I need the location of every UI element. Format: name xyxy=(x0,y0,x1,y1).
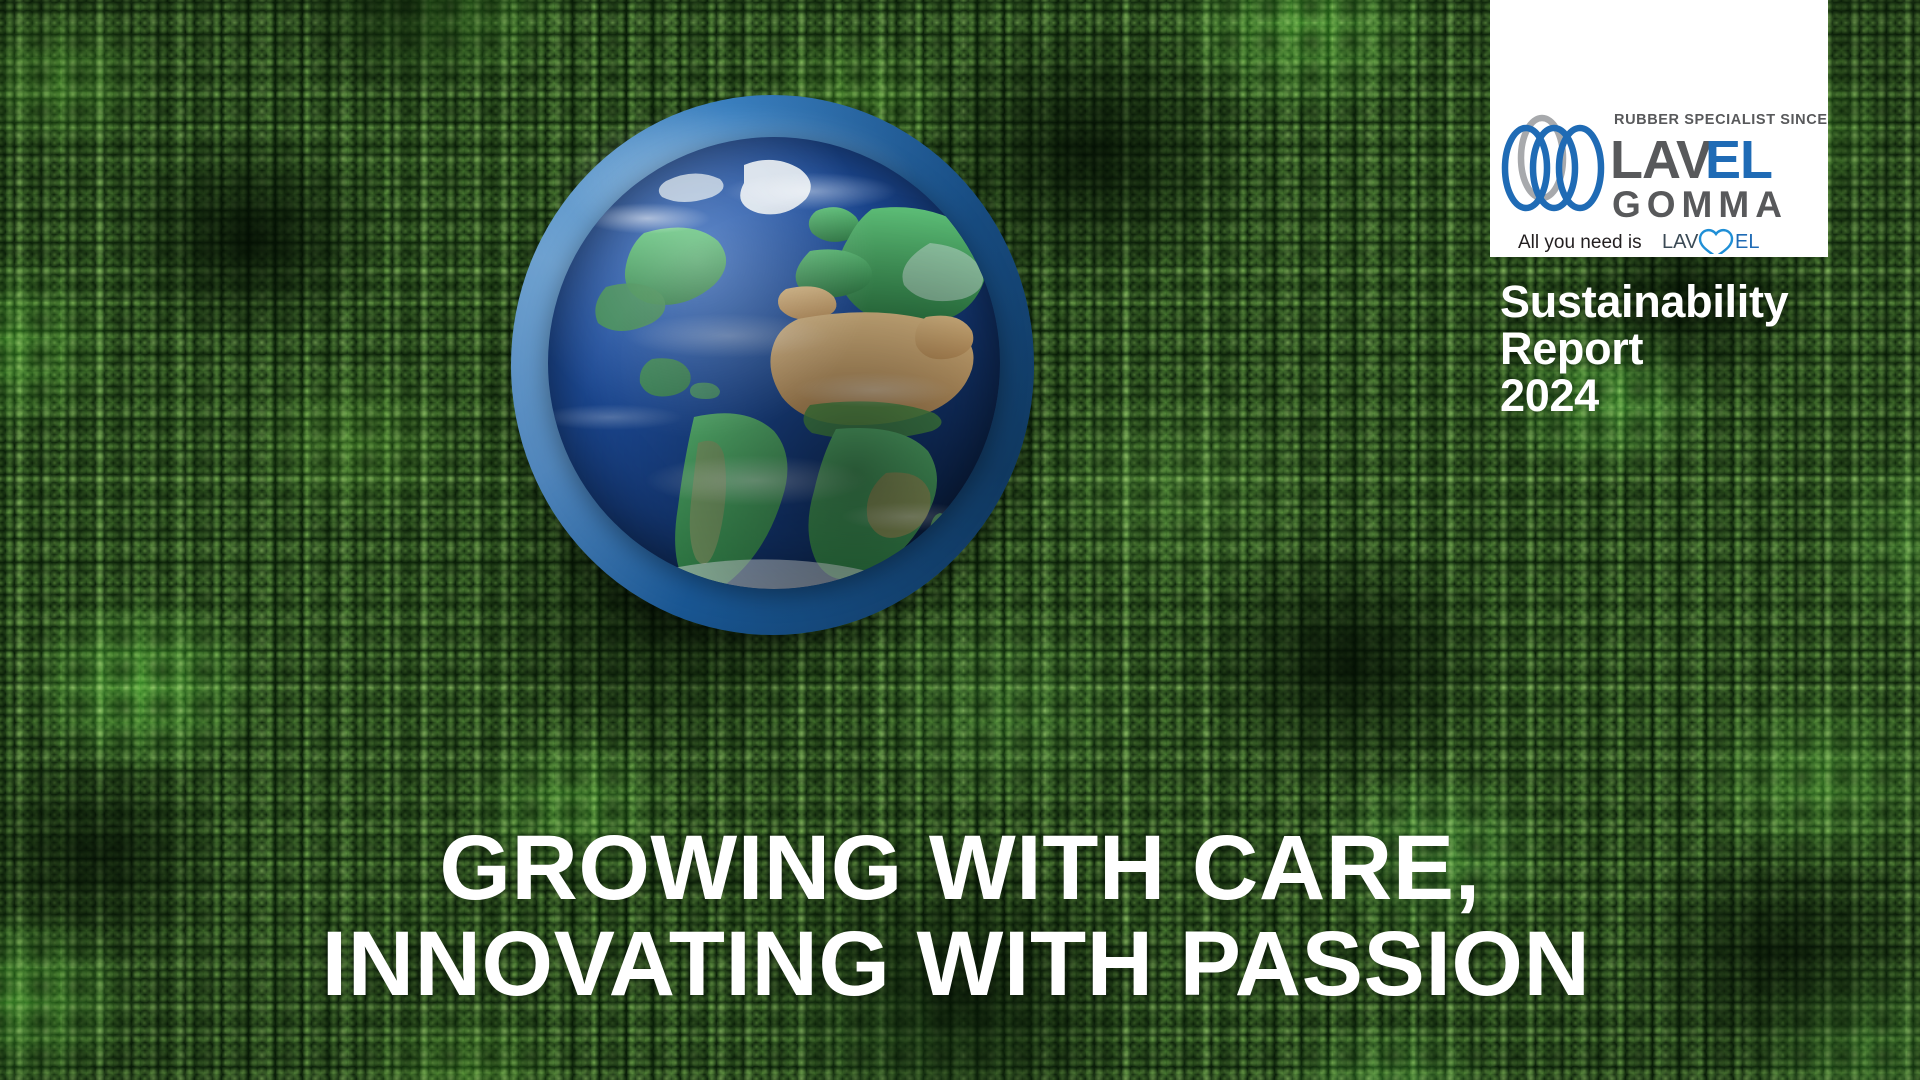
earth-sphere xyxy=(548,137,1000,589)
heart-icon xyxy=(1700,230,1732,254)
logo-ring-blue-2 xyxy=(1533,128,1575,208)
cover-headline: GROWING WITH CARE, INNOVATING WITH PASSI… xyxy=(0,820,1920,1012)
logo-wordmark-lav: LAV xyxy=(1610,130,1712,190)
earth-sphere-shading xyxy=(548,137,1000,589)
lavel-gomma-logo-card: RUBBER SPECIALIST SINCE 1973 LAV EL GOMM… xyxy=(1490,0,1828,257)
earth-globe-illustration xyxy=(511,95,1034,635)
logo-tagline-brand-post: EL xyxy=(1735,231,1759,253)
cover-title-year: 2024 xyxy=(1500,372,1900,419)
headline-line-2: INNOVATING WITH PASSION xyxy=(0,916,1920,1012)
headline-line-1: GROWING WITH CARE, xyxy=(0,820,1920,916)
cover-title-line-2: Report xyxy=(1500,325,1900,372)
report-cover-page: RUBBER SPECIALIST SINCE 1973 LAV EL GOMM… xyxy=(0,0,1920,1080)
logo-lockup: RUBBER SPECIALIST SINCE 1973 LAV EL GOMM… xyxy=(1490,102,1828,254)
logo-wordmark-el: EL xyxy=(1705,130,1772,190)
lavel-gomma-logo-icon: RUBBER SPECIALIST SINCE 1973 LAV EL GOMM… xyxy=(1490,102,1828,254)
logo-strapline: RUBBER SPECIALIST SINCE 1973 xyxy=(1614,112,1828,128)
logo-tagline-prefix: All you need is xyxy=(1518,232,1642,253)
logo-tagline-brand-pre: LAV xyxy=(1662,231,1699,253)
cover-title-line-1: Sustainability xyxy=(1500,278,1900,325)
cover-title: Sustainability Report 2024 xyxy=(1500,278,1900,419)
logo-wordmark-gomma: GOMMA xyxy=(1612,184,1788,225)
